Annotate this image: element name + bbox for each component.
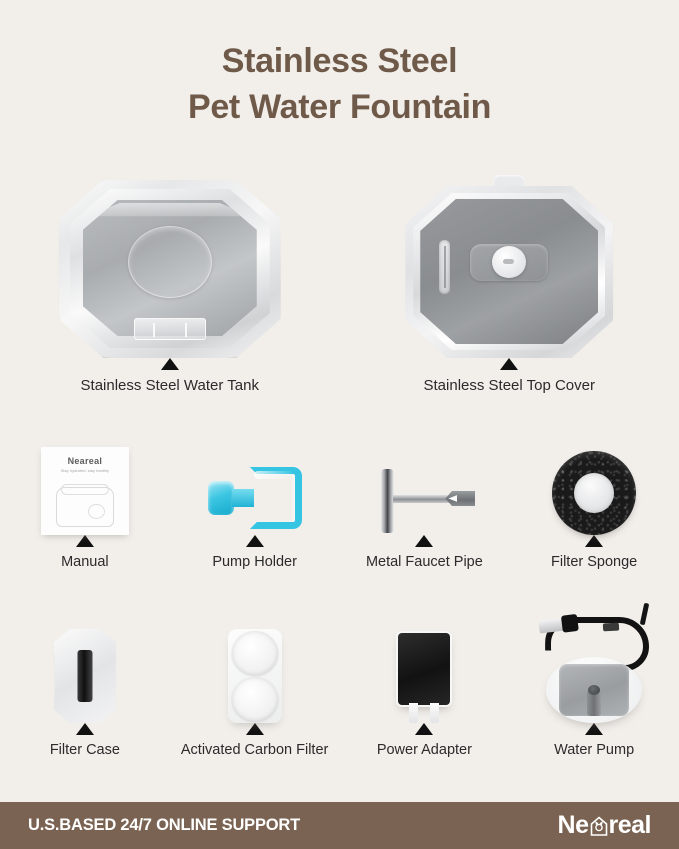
top-cover-image xyxy=(405,168,613,358)
water-tank-illustration xyxy=(59,180,281,358)
water-level-window-icon xyxy=(439,240,450,294)
faucet-nozzle xyxy=(445,491,475,506)
pump-holder-image xyxy=(206,425,304,535)
logo-text-after: real xyxy=(609,811,651,840)
product-item-filter-sponge: Filter Sponge xyxy=(509,425,679,570)
holder-highlight xyxy=(254,471,294,479)
pump-spout xyxy=(587,690,601,716)
pointer-arrow-icon xyxy=(585,535,603,547)
pointer-arrow-icon xyxy=(76,535,94,547)
filter-sponge-illustration xyxy=(552,451,636,535)
product-label: Stainless Steel Top Cover xyxy=(424,377,595,394)
filter-case-slot xyxy=(77,650,92,702)
product-item-water-tank: Stainless Steel Water Tank xyxy=(0,168,340,394)
faucet-pipe-illustration xyxy=(371,469,477,535)
pointer-arrow-icon xyxy=(585,723,603,735)
adapter-prong-right xyxy=(430,703,439,723)
activated-carbon-filter-image xyxy=(228,605,282,723)
holder-knob xyxy=(208,481,234,515)
title-line-1: Stainless Steel xyxy=(0,38,679,84)
filter-sponge-image xyxy=(552,425,636,535)
tank-plastic-bracket xyxy=(134,318,206,340)
product-row-middle: Neareal Stay hydrated, stay healthy Manu… xyxy=(0,425,679,570)
water-tank-image xyxy=(59,168,281,358)
brand-logo: Ne real xyxy=(558,811,651,840)
power-adapter-illustration xyxy=(396,631,452,723)
pointer-arrow-icon xyxy=(500,358,518,370)
manual-tagline-text: Stay hydrated, stay healthy xyxy=(41,468,129,473)
filter-case-left-tab xyxy=(45,655,55,695)
product-row-top: Stainless Steel Water Tank Stainless Ste… xyxy=(0,168,679,394)
manual-brand-text: Neareal xyxy=(41,456,129,466)
product-label: Water Pump xyxy=(554,742,634,758)
product-infographic: Stainless Steel Pet Water Fountain Stain… xyxy=(0,0,679,849)
product-label: Filter Sponge xyxy=(551,554,637,570)
filter-case-illustration xyxy=(54,629,116,723)
title-line-2: Pet Water Fountain xyxy=(0,84,679,130)
product-label: Stainless Steel Water Tank xyxy=(81,377,259,394)
power-adapter-image xyxy=(396,605,452,723)
page-title: Stainless Steel Pet Water Fountain xyxy=(0,38,679,130)
product-item-water-pump: Water Pump xyxy=(509,605,679,758)
product-item-manual: Neareal Stay hydrated, stay healthy Manu… xyxy=(0,425,170,570)
product-item-filter-case: Filter Case xyxy=(0,605,170,758)
product-item-power-adapter: Power Adapter xyxy=(340,605,510,758)
carbon-filter-disc-bottom xyxy=(232,677,278,721)
product-item-activated-carbon-filter: Activated Carbon Filter xyxy=(170,605,340,758)
footer-bar: U.S.BASED 24/7 ONLINE SUPPORT Ne real xyxy=(0,802,679,849)
product-label: Pump Holder xyxy=(212,554,297,570)
manual-illustration: Neareal Stay hydrated, stay healthy xyxy=(41,447,129,535)
carbon-filter-disc-top xyxy=(232,631,278,675)
product-item-pump-holder: Pump Holder xyxy=(170,425,340,570)
house-cat-logo-icon xyxy=(590,816,608,836)
cover-center-cap xyxy=(492,246,526,278)
tank-inner-circle xyxy=(128,226,212,298)
pump-wire-entry xyxy=(640,603,649,626)
logo-text-before: Ne xyxy=(558,811,589,840)
pointer-arrow-icon xyxy=(246,535,264,547)
product-item-top-cover: Stainless Steel Top Cover xyxy=(340,168,679,394)
adapter-prong-left xyxy=(409,703,418,723)
pointer-arrow-icon xyxy=(161,358,179,370)
pump-holder-illustration xyxy=(206,461,304,535)
product-label: Manual xyxy=(61,554,109,570)
filter-case-image xyxy=(54,605,116,723)
water-pump-image xyxy=(531,605,657,723)
product-label: Activated Carbon Filter xyxy=(181,742,328,758)
pointer-arrow-icon xyxy=(415,535,433,547)
top-cover-illustration xyxy=(405,186,613,358)
adapter-body xyxy=(396,631,452,707)
product-label: Metal Faucet Pipe xyxy=(366,554,483,570)
water-pump-illustration xyxy=(531,615,657,723)
pointer-arrow-icon xyxy=(76,723,94,735)
carbon-filter-illustration xyxy=(228,629,282,723)
product-label: Power Adapter xyxy=(377,742,472,758)
pointer-arrow-icon xyxy=(246,723,264,735)
product-item-metal-faucet-pipe: Metal Faucet Pipe xyxy=(340,425,510,570)
manual-line-drawing xyxy=(56,487,114,527)
pointer-arrow-icon xyxy=(415,723,433,735)
faucet-horizontal-arm xyxy=(393,495,451,503)
product-label: Filter Case xyxy=(50,742,120,758)
filter-case-right-tab xyxy=(115,669,122,687)
metal-faucet-pipe-image xyxy=(371,425,477,535)
cable-ferrite-mark xyxy=(603,623,619,632)
manual-image: Neareal Stay hydrated, stay healthy xyxy=(41,425,129,535)
support-text: U.S.BASED 24/7 ONLINE SUPPORT xyxy=(28,816,300,835)
product-row-bottom: Filter Case Activated Carbon Filter xyxy=(0,605,679,758)
